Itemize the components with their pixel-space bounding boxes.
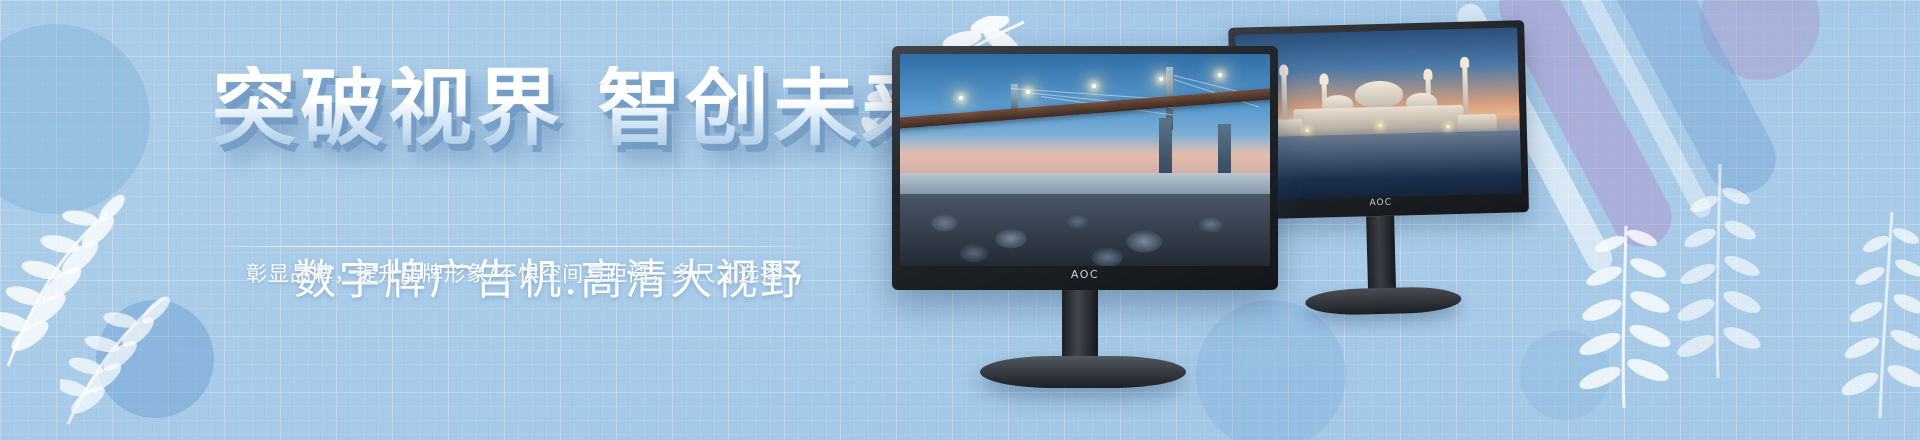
monitor-bezel [892, 46, 1278, 290]
brand-logo: AOC [1071, 268, 1099, 281]
monitor-base [1305, 286, 1462, 316]
monitor-screen [1235, 27, 1521, 200]
headline: 突破视界 智创未来 [212, 66, 949, 150]
monitor-front: AOC [892, 46, 1278, 394]
product-monitors: AOC [880, 0, 1920, 440]
promo-banner: 突破视界 智创未来 数字牌广告机.高清大视野 彰显品牌，提升品牌形象/不惧空间与… [0, 0, 1920, 440]
caption: 彰显品牌，提升品牌形象/不惧空间与距离，多尺寸选择 [246, 258, 782, 288]
copy-block: 突破视界 智创未来 数字牌广告机.高清大视野 [0, 0, 900, 440]
divider [196, 246, 818, 247]
monitor-neck [1366, 216, 1396, 295]
monitor-base [980, 356, 1186, 388]
mosque-scene [1235, 27, 1521, 200]
monitor-neck [1062, 290, 1098, 364]
monitor-screen [900, 54, 1270, 266]
brand-logo: AOC [1369, 198, 1392, 209]
bridge-scene [900, 54, 1270, 266]
